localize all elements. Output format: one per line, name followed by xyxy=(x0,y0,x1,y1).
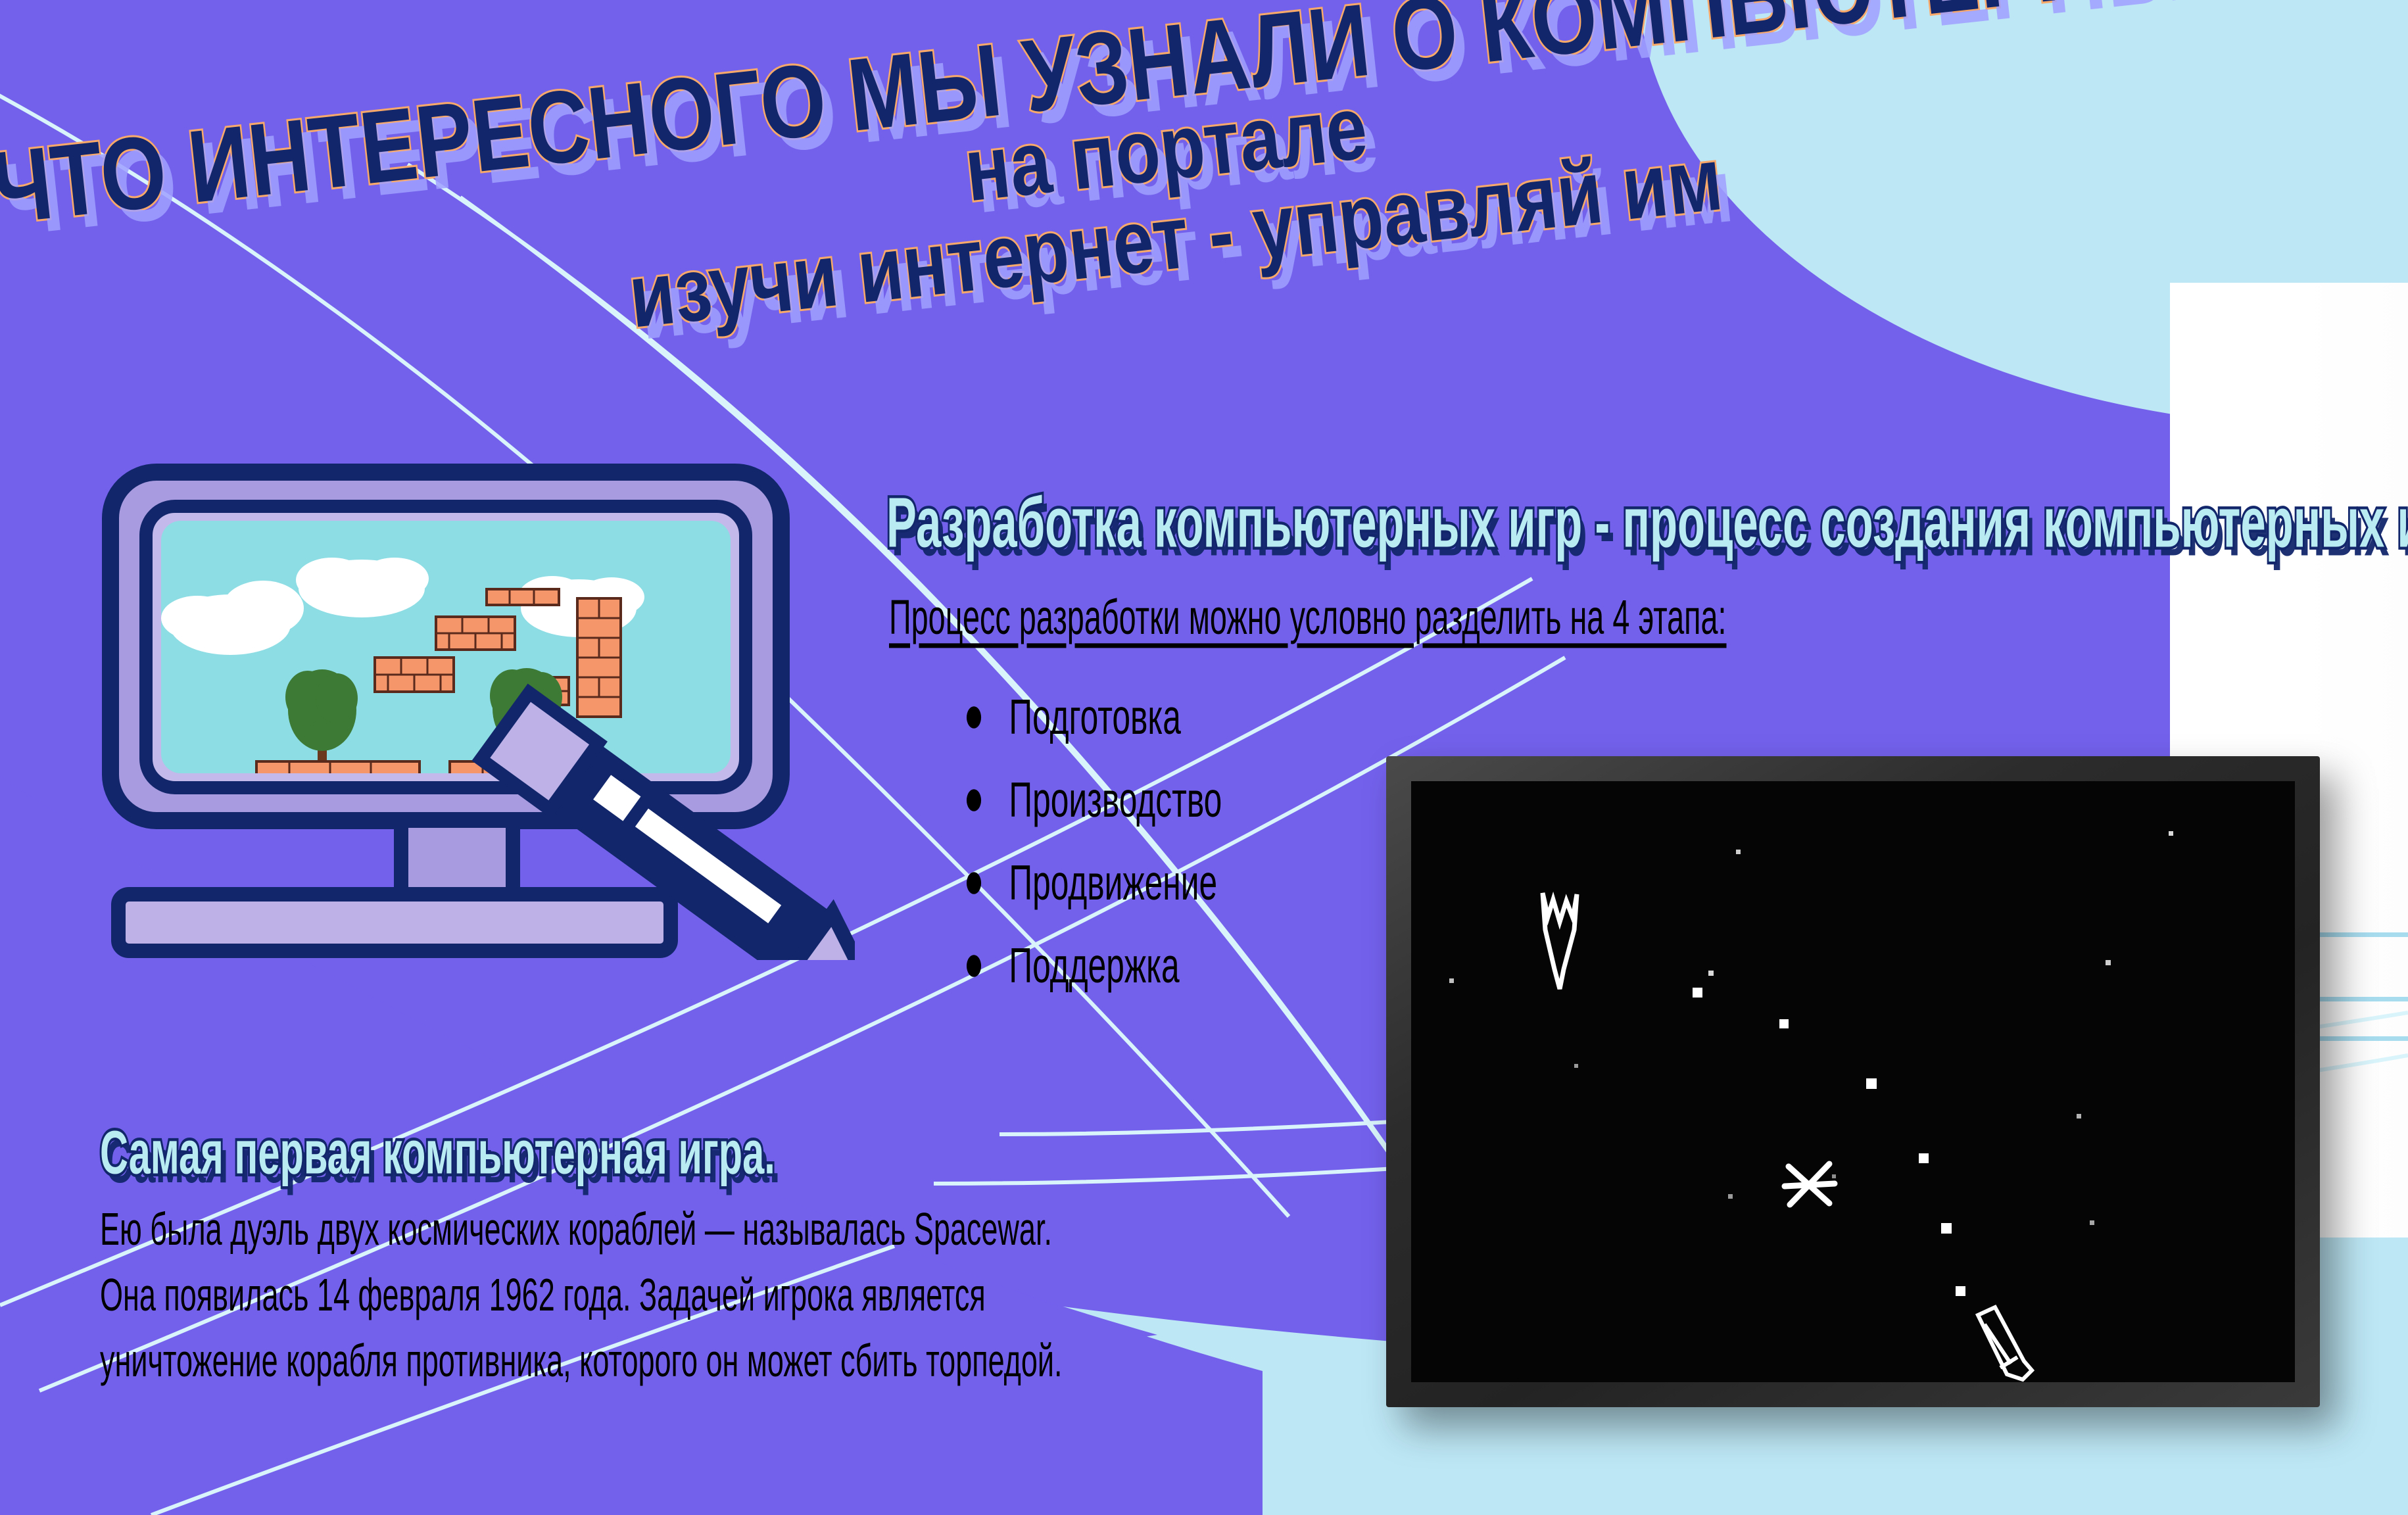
monitor-stand-base xyxy=(118,894,671,951)
list-item: Подготовка xyxy=(967,689,1222,746)
list-item: Поддержка xyxy=(967,938,1222,995)
paragraph-line: уничтожение корабля противника, которого… xyxy=(100,1334,1165,1387)
first-game-heading: Самая первая компьютерная игра. xyxy=(100,1118,775,1188)
first-game-paragraph: Ею была дуэль двух космических кораблей … xyxy=(100,1210,1284,1407)
list-item: Производство xyxy=(967,772,1222,829)
spacewar-game-canvas xyxy=(1411,781,2295,1382)
list-item: Продвижение xyxy=(967,855,1222,912)
poster-canvas: ЧТО ИНТЕРЕСНОГО МЫ УЗНАЛИ О КОМПЬЮТЕРНЫХ… xyxy=(0,0,2408,1515)
spacewar-screen xyxy=(1411,781,2295,1382)
space-background xyxy=(1411,781,2295,1382)
spacewar-photo-frame xyxy=(1386,756,2320,1407)
computer-monitor-illustration xyxy=(99,460,855,960)
development-heading: Разработка компьютерных игр - процесс со… xyxy=(886,482,2408,563)
paragraph-line: Ею была дуэль двух космических кораблей … xyxy=(100,1202,1165,1255)
paragraph-line: Она появилась 14 февраля 1962 года. Зада… xyxy=(100,1268,1165,1321)
development-stages-list: Подготовка Производство Продвижение Подд… xyxy=(967,697,1244,1028)
development-intro: Процесс разработки можно условно раздели… xyxy=(889,590,1727,646)
